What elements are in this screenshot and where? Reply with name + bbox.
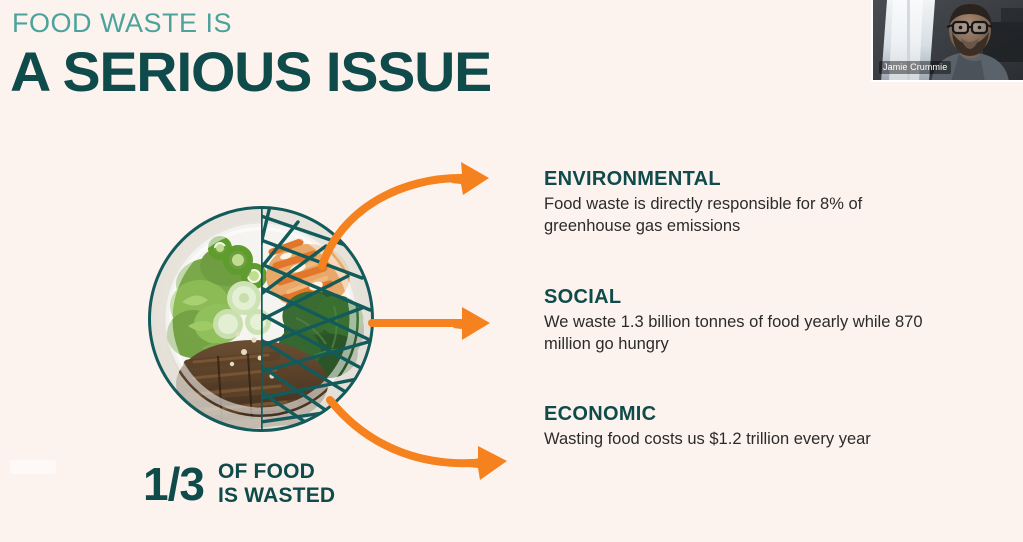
impact-point-title: ENVIRONMENTAL [544, 168, 964, 190]
food-bowl-photo [148, 206, 374, 432]
impact-point-environmental: ENVIRONMENTAL Food waste is directly res… [544, 168, 964, 238]
impact-point-body: Food waste is directly responsible for 8… [544, 193, 944, 238]
impact-point-body: We waste 1.3 billion tonnes of food year… [544, 311, 944, 356]
impact-point-title: SOCIAL [544, 286, 964, 308]
faint-watermark-artifact [10, 460, 56, 474]
impact-point-body: Wasting food costs us $1.2 trillion ever… [544, 428, 944, 450]
arrow-economic-head [468, 446, 507, 480]
slide-eyebrow: FOOD WASTE IS [12, 10, 630, 37]
arrow-environmental-head [451, 162, 489, 195]
webcam-participant-name: Jamie Crummie [879, 61, 951, 74]
food-bowl-graphic [148, 206, 374, 432]
fraction-label: OF FOOD IS WASTED [218, 460, 335, 508]
waste-fraction-stat: 1/3 OF FOOD IS WASTED [143, 460, 335, 508]
impact-point-economic: ECONOMIC Wasting food costs us $1.2 tril… [544, 403, 964, 450]
arrow-social-head [453, 307, 490, 340]
fraction-label-line-1: OF FOOD [218, 460, 335, 484]
presentation-slide: FOOD WASTE IS A SERIOUS ISSUE [0, 0, 1023, 542]
fraction-label-line-2: IS WASTED [218, 484, 335, 508]
impact-point-title: ECONOMIC [544, 403, 964, 425]
fraction-value: 1/3 [143, 461, 204, 507]
impact-point-social: SOCIAL We waste 1.3 billion tonnes of fo… [544, 286, 964, 356]
slide-header: FOOD WASTE IS A SERIOUS ISSUE [10, 10, 630, 100]
slide-headline: A SERIOUS ISSUE [10, 43, 642, 100]
impact-points-list: ENVIRONMENTAL Food waste is directly res… [544, 168, 964, 450]
webcam-video-tile[interactable]: Jamie Crummie [871, 0, 1023, 82]
